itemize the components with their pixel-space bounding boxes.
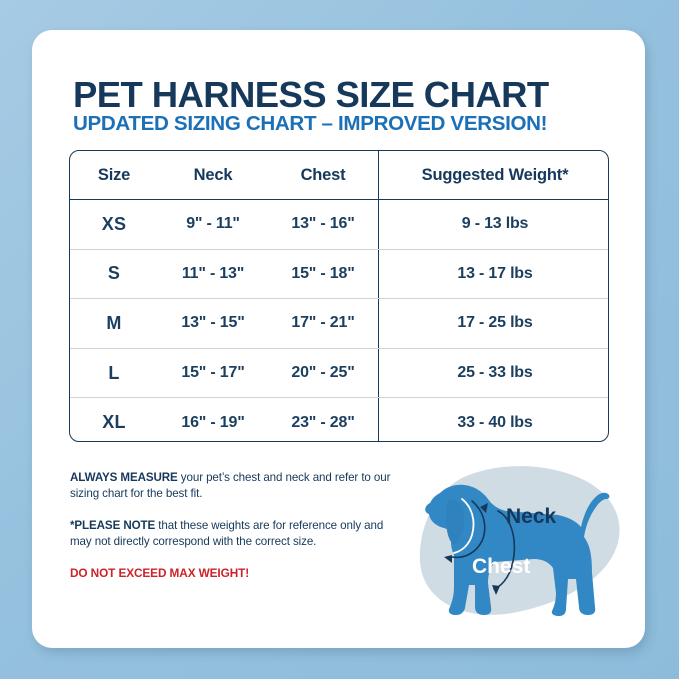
cell-size: M [70,299,158,349]
neck-label: Neck [506,505,557,528]
table-row: L 15" - 17" 20" - 25" 25 - 33 lbs [70,348,609,398]
table-body: XS 9" - 11" 13" - 16" 9 - 13 lbs S 11" -… [70,200,609,443]
cell-weight: 33 - 40 lbs [379,398,610,442]
size-chart-card: PET HARNESS SIZE CHART UPDATED SIZING CH… [32,30,645,648]
size-table-container: Size Neck Chest Suggested Weight* XS 9" … [69,150,609,442]
page-title: PET HARNESS SIZE CHART [73,74,549,116]
cell-chest: 15" - 18" [268,249,379,299]
cell-size: L [70,348,158,398]
table-row: XS 9" - 11" 13" - 16" 9 - 13 lbs [70,200,609,250]
chest-label: Chest [472,555,530,578]
cell-weight: 13 - 17 lbs [379,249,610,299]
cell-size: XS [70,200,158,250]
cell-weight: 17 - 25 lbs [379,299,610,349]
cell-neck: 9" - 11" [158,200,268,250]
table-row: S 11" - 13" 15" - 18" 13 - 17 lbs [70,249,609,299]
column-header-size: Size [70,151,158,200]
cell-chest: 23" - 28" [268,398,379,442]
column-header-neck: Neck [158,151,268,200]
cell-neck: 13" - 15" [158,299,268,349]
cell-neck: 11" - 13" [158,249,268,299]
column-header-weight: Suggested Weight* [379,151,610,200]
table-header-row: Size Neck Chest Suggested Weight* [70,151,609,200]
cell-chest: 17" - 21" [268,299,379,349]
cell-neck: 15" - 17" [158,348,268,398]
size-table: Size Neck Chest Suggested Weight* XS 9" … [70,151,609,442]
page-subtitle: UPDATED SIZING CHART – IMPROVED VERSION! [73,112,547,136]
note-always-measure-bold: ALWAYS MEASURE [70,471,178,484]
note-max-weight-warning: DO NOT EXCEED MAX WEIGHT! [70,566,400,580]
note-please-note: *PLEASE NOTE that these weights are for … [70,518,400,549]
table-header: Size Neck Chest Suggested Weight* [70,151,609,200]
cell-chest: 20" - 25" [268,348,379,398]
footer-notes: ALWAYS MEASURE your pet’s chest and neck… [70,470,400,580]
cell-neck: 16" - 19" [158,398,268,442]
note-please-note-bold: *PLEASE NOTE [70,519,155,532]
dog-measurement-illustration: Neck Chest [406,455,631,635]
cell-weight: 25 - 33 lbs [379,348,610,398]
column-header-chest: Chest [268,151,379,200]
cell-chest: 13" - 16" [268,200,379,250]
table-row: XL 16" - 19" 23" - 28" 33 - 40 lbs [70,398,609,442]
cell-weight: 9 - 13 lbs [379,200,610,250]
note-always-measure: ALWAYS MEASURE your pet’s chest and neck… [70,470,400,501]
cell-size: XL [70,398,158,442]
cell-size: S [70,249,158,299]
table-row: M 13" - 15" 17" - 21" 17 - 25 lbs [70,299,609,349]
